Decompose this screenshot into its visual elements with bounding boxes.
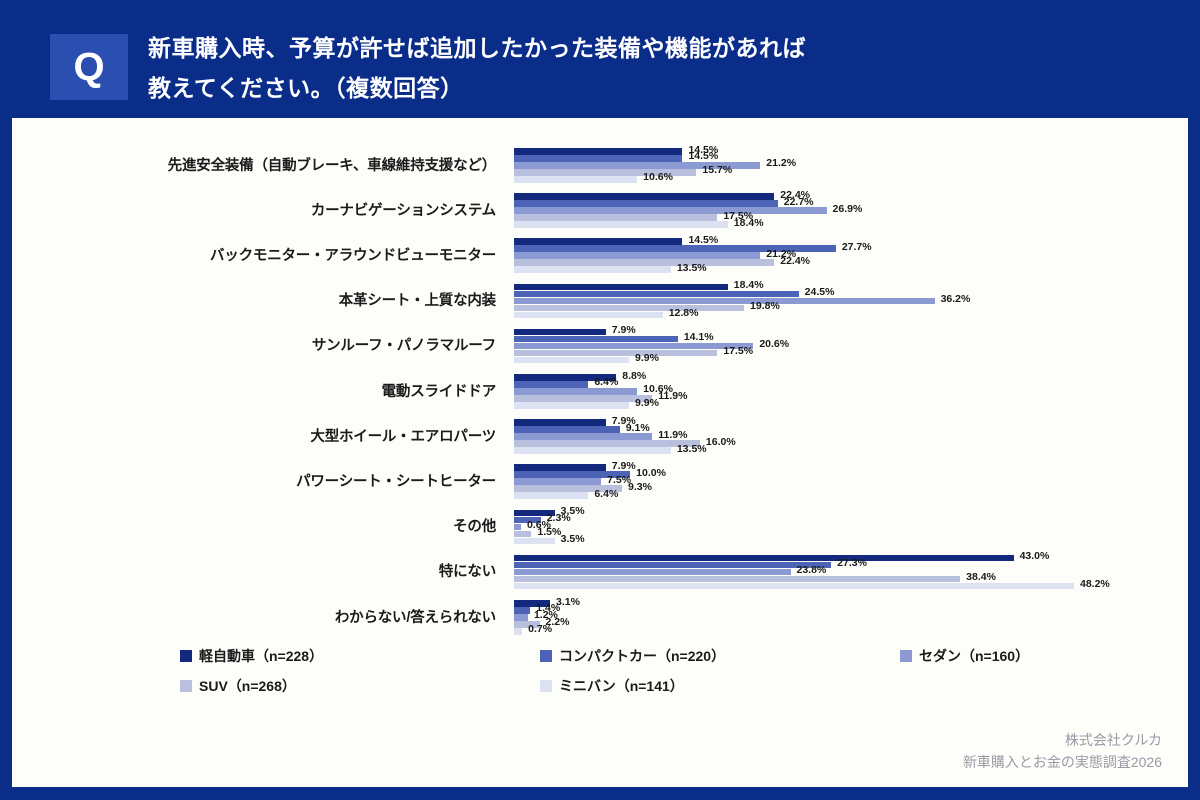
bar-group: 7.9%10.0%7.5%9.3%6.4% <box>514 464 1174 498</box>
bar-line: 15.7% <box>514 169 1174 176</box>
bar-2 <box>514 478 601 485</box>
bar-1 <box>514 562 831 569</box>
bar-value-label: 12.8% <box>669 307 699 319</box>
bar-line: 0.6% <box>514 524 1174 531</box>
bar-group: 14.5%27.7%21.2%22.4%13.5% <box>514 238 1174 272</box>
legend-label: SUV（n=268） <box>199 676 296 696</box>
chart-row: わからない/答えられない3.1%1.4%1.2%2.2%0.7% <box>12 598 1188 634</box>
category-label: 本革シート・上質な内装 <box>12 282 496 318</box>
bar-3 <box>514 259 774 266</box>
legend-item[interactable]: SUV（n=268） <box>180 676 296 696</box>
bar-line: 9.9% <box>514 357 1174 364</box>
category-label: その他 <box>12 508 496 544</box>
bar-line: 3.1% <box>514 600 1174 607</box>
legend-label: ミニバン（n=141） <box>559 676 684 696</box>
content-panel: 先進安全装備（自動ブレーキ、車線維持支援など）14.5%14.5%21.2%15… <box>12 118 1188 787</box>
bar-3 <box>514 440 700 447</box>
legend-label: コンパクトカー（n=220） <box>559 646 725 666</box>
question-badge-label: Q <box>73 47 104 87</box>
bar-value-label: 14.1% <box>684 331 714 343</box>
bar-value-label: 21.2% <box>766 157 796 169</box>
bar-line: 13.5% <box>514 447 1174 454</box>
bar-value-label: 10.0% <box>636 467 666 479</box>
bar-line: 14.5% <box>514 148 1174 155</box>
bar-4 <box>514 402 629 409</box>
bar-group: 3.1%1.4%1.2%2.2%0.7% <box>514 600 1174 634</box>
chart-row: パワーシート・シートヒーター7.9%10.0%7.5%9.3%6.4% <box>12 462 1188 498</box>
bar-value-label: 36.2% <box>941 293 971 305</box>
bar-value-label: 22.7% <box>784 196 814 208</box>
bar-value-label: 13.5% <box>677 443 707 455</box>
category-label: パワーシート・シートヒーター <box>12 462 496 498</box>
chart-row: 電動スライドドア8.8%6.4%10.6%11.9%9.9% <box>12 372 1188 408</box>
category-label: サンルーフ・パノラマルーフ <box>12 327 496 363</box>
bar-group: 18.4%24.5%36.2%19.8%12.8% <box>514 284 1174 318</box>
bar-value-label: 6.4% <box>594 376 618 388</box>
bar-line: 9.1% <box>514 426 1174 433</box>
bar-line: 6.4% <box>514 381 1174 388</box>
bar-line: 7.9% <box>514 329 1174 336</box>
bar-value-label: 19.8% <box>750 300 780 312</box>
bar-line: 27.7% <box>514 245 1174 252</box>
bar-0 <box>514 238 682 245</box>
bar-line: 11.9% <box>514 395 1174 402</box>
bar-2 <box>514 252 760 259</box>
bar-2 <box>514 207 827 214</box>
bar-3 <box>514 305 744 312</box>
bar-value-label: 0.7% <box>528 623 552 635</box>
bar-line: 14.5% <box>514 155 1174 162</box>
legend-item[interactable]: 軽自動車（n=228） <box>180 646 323 666</box>
bar-2 <box>514 524 521 531</box>
bar-line: 19.8% <box>514 305 1174 312</box>
bar-chart: 先進安全装備（自動ブレーキ、車線維持支援など）14.5%14.5%21.2%15… <box>12 118 1188 638</box>
bar-0 <box>514 329 606 336</box>
bar-value-label: 11.9% <box>658 429 687 441</box>
bar-value-label: 3.5% <box>561 533 585 545</box>
bar-value-label: 27.3% <box>837 557 867 569</box>
bar-line: 18.4% <box>514 221 1174 228</box>
bar-value-label: 18.4% <box>734 279 764 291</box>
bar-group: 7.9%9.1%11.9%16.0%13.5% <box>514 419 1174 453</box>
chart-row: 本革シート・上質な内装18.4%24.5%36.2%19.8%12.8% <box>12 282 1188 318</box>
bar-value-label: 23.8% <box>797 564 827 576</box>
bar-4 <box>514 312 663 319</box>
bar-value-label: 16.0% <box>706 436 736 448</box>
bar-4 <box>514 628 522 635</box>
bar-2 <box>514 298 935 305</box>
bar-value-label: 7.9% <box>612 460 636 472</box>
bar-value-label: 11.9% <box>658 390 687 402</box>
bar-2 <box>514 388 637 395</box>
bar-3 <box>514 531 531 538</box>
category-label: 大型ホイール・エアロパーツ <box>12 417 496 453</box>
bar-line: 36.2% <box>514 298 1174 305</box>
bar-value-label: 6.4% <box>594 488 618 500</box>
legend-swatch-icon <box>180 680 192 692</box>
chart-row: カーナビゲーションシステム22.4%22.7%26.9%17.5%18.4% <box>12 191 1188 227</box>
bar-line: 18.4% <box>514 284 1174 291</box>
bar-value-label: 26.9% <box>833 203 863 215</box>
bar-line: 0.7% <box>514 628 1174 635</box>
bar-group: 43.0%27.3%23.8%38.4%48.2% <box>514 555 1174 589</box>
bar-line: 21.2% <box>514 162 1174 169</box>
legend-swatch-icon <box>180 650 192 662</box>
bar-0 <box>514 148 682 155</box>
source-footer: 株式会社クルカ 新車購入とお金の実態調査2026 <box>963 729 1162 773</box>
bar-4 <box>514 176 637 183</box>
bar-1 <box>514 426 620 433</box>
legend-item[interactable]: コンパクトカー（n=220） <box>540 646 725 666</box>
chart-legend: 軽自動車（n=228）コンパクトカー（n=220）セダン（n=160）SUV（n… <box>12 646 1188 708</box>
bar-3 <box>514 214 717 221</box>
bar-2 <box>514 569 791 576</box>
legend-label: 軽自動車（n=228） <box>199 646 323 666</box>
bar-line: 26.9% <box>514 207 1174 214</box>
bar-line: 13.5% <box>514 266 1174 273</box>
legend-item[interactable]: セダン（n=160） <box>900 646 1029 666</box>
page-title-line-2: 教えてください。（複数回答） <box>148 68 1148 108</box>
bar-group: 22.4%22.7%26.9%17.5%18.4% <box>514 193 1174 227</box>
header-banner: Q 新車購入時、予算が許せば追加したかった装備や機能があれば 教えてください。（… <box>0 0 1200 118</box>
bar-value-label: 43.0% <box>1020 550 1050 562</box>
bar-value-label: 17.5% <box>723 345 753 357</box>
bar-4 <box>514 492 588 499</box>
bar-value-label: 7.9% <box>612 324 636 336</box>
bar-4 <box>514 266 671 273</box>
question-badge: Q <box>50 34 128 100</box>
bar-line: 17.5% <box>514 214 1174 221</box>
legend-swatch-icon <box>900 650 912 662</box>
bar-value-label: 1.5% <box>537 526 561 538</box>
bar-0 <box>514 284 728 291</box>
bar-line: 2.2% <box>514 621 1174 628</box>
bar-value-label: 27.7% <box>842 241 872 253</box>
bar-1 <box>514 381 588 388</box>
page-title: 新車購入時、予算が許せば追加したかった装備や機能があれば 教えてください。（複数… <box>148 28 1148 108</box>
bar-value-label: 9.9% <box>635 352 659 364</box>
bar-line: 38.4% <box>514 576 1174 583</box>
bar-1 <box>514 607 530 614</box>
bar-group: 8.8%6.4%10.6%11.9%9.9% <box>514 374 1174 408</box>
legend-swatch-icon <box>540 650 552 662</box>
bar-line: 22.4% <box>514 193 1174 200</box>
source-company: 株式会社クルカ <box>963 729 1162 751</box>
bar-line: 1.2% <box>514 614 1174 621</box>
bar-group: 3.5%2.3%0.6%1.5%3.5% <box>514 510 1174 544</box>
bar-line: 3.5% <box>514 538 1174 545</box>
bar-value-label: 20.6% <box>759 338 789 350</box>
bar-1 <box>514 155 682 162</box>
bar-1 <box>514 336 678 343</box>
bar-value-label: 38.4% <box>966 571 996 583</box>
bar-line: 23.8% <box>514 569 1174 576</box>
bar-line: 2.3% <box>514 517 1174 524</box>
legend-item[interactable]: ミニバン（n=141） <box>540 676 684 696</box>
bar-line: 7.9% <box>514 419 1174 426</box>
chart-row: サンルーフ・パノラマルーフ7.9%14.1%20.6%17.5%9.9% <box>12 327 1188 363</box>
bar-value-label: 8.8% <box>622 370 646 382</box>
bar-3 <box>514 350 717 357</box>
bar-4 <box>514 538 555 545</box>
bar-line: 1.5% <box>514 531 1174 538</box>
bar-2 <box>514 614 528 621</box>
bar-0 <box>514 419 606 426</box>
bar-value-label: 22.4% <box>780 255 810 267</box>
bar-value-label: 9.9% <box>635 397 659 409</box>
category-label: バックモニター・アラウンドビューモニター <box>12 236 496 272</box>
bar-line: 16.0% <box>514 440 1174 447</box>
bar-line: 14.1% <box>514 336 1174 343</box>
bar-0 <box>514 464 606 471</box>
bar-line: 1.4% <box>514 607 1174 614</box>
category-label: わからない/答えられない <box>12 598 496 634</box>
bar-line: 3.5% <box>514 510 1174 517</box>
bar-0 <box>514 555 1014 562</box>
bar-value-label: 15.7% <box>702 164 732 176</box>
category-label: 特にない <box>12 553 496 589</box>
bar-line: 17.5% <box>514 350 1174 357</box>
bar-line: 27.3% <box>514 562 1174 569</box>
bar-1 <box>514 291 799 298</box>
bar-0 <box>514 193 774 200</box>
category-label: 先進安全装備（自動ブレーキ、車線維持支援など） <box>12 146 496 182</box>
bar-line: 7.9% <box>514 464 1174 471</box>
bar-value-label: 13.5% <box>677 262 707 274</box>
bar-1 <box>514 200 778 207</box>
bar-line: 10.6% <box>514 176 1174 183</box>
bar-value-label: 9.3% <box>628 481 652 493</box>
chart-row: その他3.5%2.3%0.6%1.5%3.5% <box>12 508 1188 544</box>
bar-line: 10.6% <box>514 388 1174 395</box>
bar-4 <box>514 447 671 454</box>
bar-line: 24.5% <box>514 291 1174 298</box>
bar-value-label: 10.6% <box>643 171 673 183</box>
bar-value-label: 9.1% <box>626 422 650 434</box>
chart-row: 大型ホイール・エアロパーツ7.9%9.1%11.9%16.0%13.5% <box>12 417 1188 453</box>
bar-line: 22.4% <box>514 259 1174 266</box>
bar-line: 48.2% <box>514 583 1174 590</box>
category-label: 電動スライドドア <box>12 372 496 408</box>
legend-label: セダン（n=160） <box>919 646 1029 666</box>
bar-value-label: 24.5% <box>805 286 835 298</box>
source-survey: 新車購入とお金の実態調査2026 <box>963 751 1162 773</box>
bar-4 <box>514 583 1074 590</box>
bar-group: 7.9%14.1%20.6%17.5%9.9% <box>514 329 1174 363</box>
bar-3 <box>514 576 960 583</box>
bar-value-label: 48.2% <box>1080 578 1110 590</box>
bar-group: 14.5%14.5%21.2%15.7%10.6% <box>514 148 1174 182</box>
bar-4 <box>514 357 629 364</box>
bar-value-label: 18.4% <box>734 217 764 229</box>
bar-line: 20.6% <box>514 343 1174 350</box>
chart-row: 特にない43.0%27.3%23.8%38.4%48.2% <box>12 553 1188 589</box>
bar-2 <box>514 433 652 440</box>
bar-line: 6.4% <box>514 492 1174 499</box>
bar-line: 9.9% <box>514 402 1174 409</box>
chart-row: バックモニター・アラウンドビューモニター14.5%27.7%21.2%22.4%… <box>12 236 1188 272</box>
page-title-line-1: 新車購入時、予算が許せば追加したかった装備や機能があれば <box>148 28 1148 68</box>
bar-line: 11.9% <box>514 433 1174 440</box>
bar-3 <box>514 395 652 402</box>
bar-value-label: 14.5% <box>688 150 718 162</box>
bar-4 <box>514 221 728 228</box>
bar-line: 12.8% <box>514 312 1174 319</box>
bar-value-label: 14.5% <box>688 234 718 246</box>
bar-line: 21.2% <box>514 252 1174 259</box>
bar-line: 7.5% <box>514 478 1174 485</box>
chart-row: 先進安全装備（自動ブレーキ、車線維持支援など）14.5%14.5%21.2%15… <box>12 146 1188 182</box>
bar-2 <box>514 343 753 350</box>
legend-swatch-icon <box>540 680 552 692</box>
category-label: カーナビゲーションシステム <box>12 191 496 227</box>
